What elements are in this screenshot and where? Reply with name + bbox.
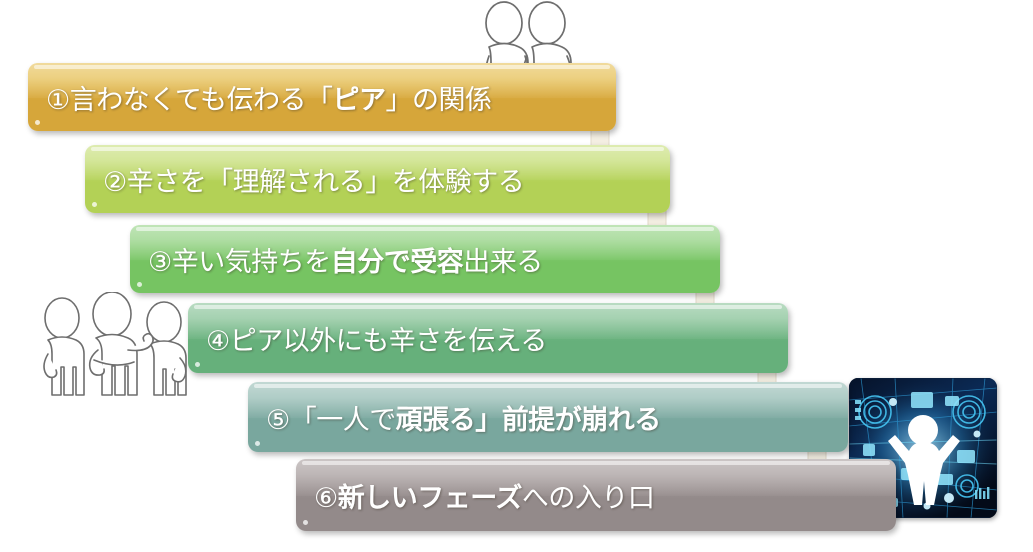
slide-canvas: ①言わなくても伝わる「ピア」の関係 ②辛さを「理解される」を体験する ③辛い気持… (0, 0, 1033, 552)
process-step-band-6[interactable]: ⑥新しいフェーズへの入り口 (296, 459, 896, 531)
step-1-label: ①言わなくても伝わる「ピア」の関係 (28, 78, 492, 117)
band-highlight-line (254, 384, 842, 388)
step-4-label: ④ピア以外にも辛さを伝える (188, 319, 547, 358)
band-corner-dot (303, 520, 308, 525)
band-highlight-line (34, 65, 610, 69)
band-corner-dot (92, 202, 97, 207)
band-corner-dot (195, 362, 200, 367)
band-corner-dot (137, 282, 142, 287)
band-highlight-line (91, 147, 664, 151)
process-step-band-5[interactable]: ⑤「一人で頑張る」前提が崩れる (248, 382, 848, 452)
step-5-label: ⑤「一人で頑張る」前提が崩れる (248, 398, 661, 437)
step-6-label: ⑥新しいフェーズへの入り口 (296, 476, 654, 515)
band-highlight-line (136, 227, 714, 231)
step-3-label: ③辛い気持ちを自分で受容出来る (130, 240, 543, 279)
band-corner-dot (255, 441, 260, 446)
band-corner-dot (35, 120, 40, 125)
band-highlight-line (302, 461, 890, 465)
band-highlight-line (194, 305, 782, 309)
process-step-band-3[interactable]: ③辛い気持ちを自分で受容出来る (130, 225, 720, 293)
process-step-band-2[interactable]: ②辛さを「理解される」を体験する (85, 145, 670, 213)
process-step-band-1[interactable]: ①言わなくても伝わる「ピア」の関係 (28, 63, 616, 131)
group-of-three-people-icon (28, 292, 198, 397)
process-step-band-4[interactable]: ④ピア以外にも辛さを伝える (188, 303, 788, 373)
step-2-label: ②辛さを「理解される」を体験する (85, 160, 524, 199)
